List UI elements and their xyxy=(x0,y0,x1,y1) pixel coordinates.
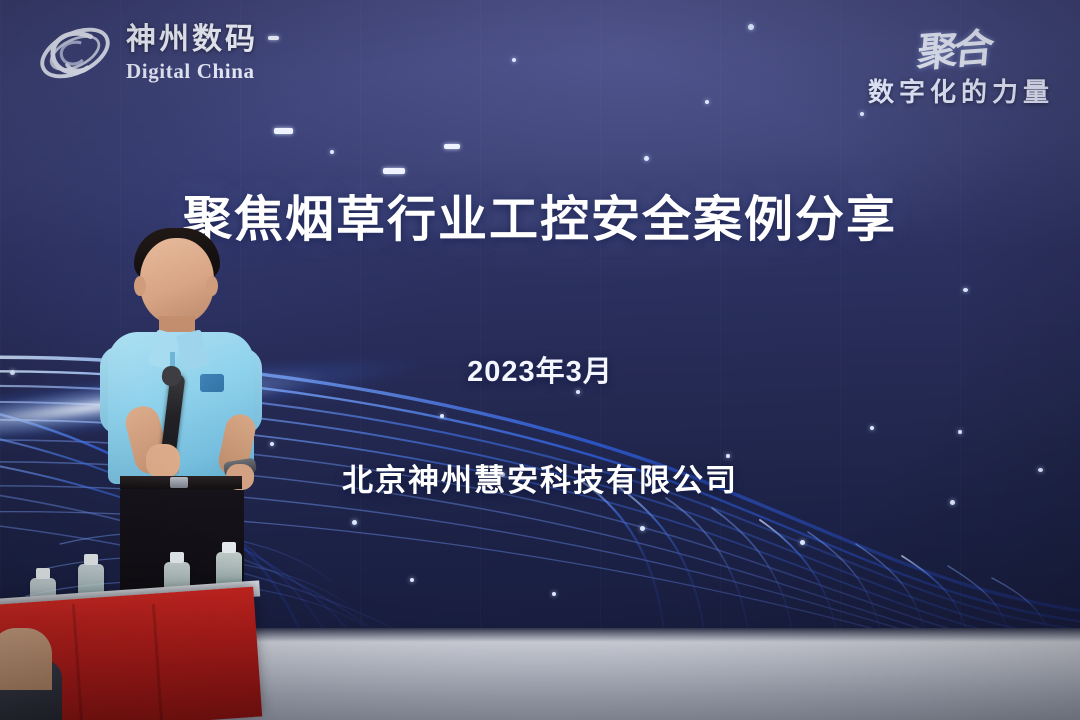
particle-dot xyxy=(963,288,968,292)
presenter-belt-buckle xyxy=(170,477,188,488)
particle-dot xyxy=(644,156,649,161)
particle-dot xyxy=(552,592,556,596)
particle-dot xyxy=(352,520,357,525)
particle-dash xyxy=(268,36,279,40)
particle-dot xyxy=(748,24,754,30)
particle-dot xyxy=(800,540,805,545)
particle-dot xyxy=(410,578,414,582)
brand-name-cn: 神州数码 xyxy=(126,25,258,55)
particle-dash xyxy=(444,144,460,149)
brand-text: 神州数码 Digital China xyxy=(126,25,258,82)
presenter-hand-left xyxy=(146,444,180,478)
bottle-cap xyxy=(84,554,98,565)
seated-attendee xyxy=(0,628,52,690)
particle-dash xyxy=(383,168,405,174)
particle-dash xyxy=(274,128,293,134)
presenter-chest-logo xyxy=(200,374,224,392)
brand-name-en: Digital China xyxy=(126,61,258,82)
particle-dot xyxy=(330,150,334,154)
event-subtitle: 数字化的力量 xyxy=(868,72,1054,109)
conference-photo: 神州数码 Digital China 聚合 数字化的力量 聚焦烟草行业工控安全案… xyxy=(0,0,1080,720)
bottle-cap xyxy=(222,542,236,553)
particle-dot xyxy=(576,390,580,394)
presenter-ear-right xyxy=(206,276,218,296)
particle-dot xyxy=(440,414,444,418)
particle-dot xyxy=(860,112,864,116)
digital-china-swirl-logo-icon xyxy=(36,16,114,90)
bottle-cap xyxy=(170,552,184,563)
brand-logo: 神州数码 Digital China xyxy=(36,16,258,90)
particle-dot xyxy=(950,500,955,505)
particle-dot xyxy=(640,526,645,531)
event-script-text: 聚合 xyxy=(915,16,993,79)
particle-dot xyxy=(870,426,874,430)
particle-dot xyxy=(512,58,516,62)
presenter-head xyxy=(140,238,214,324)
bottle-cap xyxy=(36,568,50,579)
event-mark: 聚合 数字化的力量 xyxy=(868,18,1054,109)
particle-dot xyxy=(958,430,962,434)
presenter-ear-left xyxy=(134,276,146,296)
particle-dot xyxy=(705,100,709,104)
